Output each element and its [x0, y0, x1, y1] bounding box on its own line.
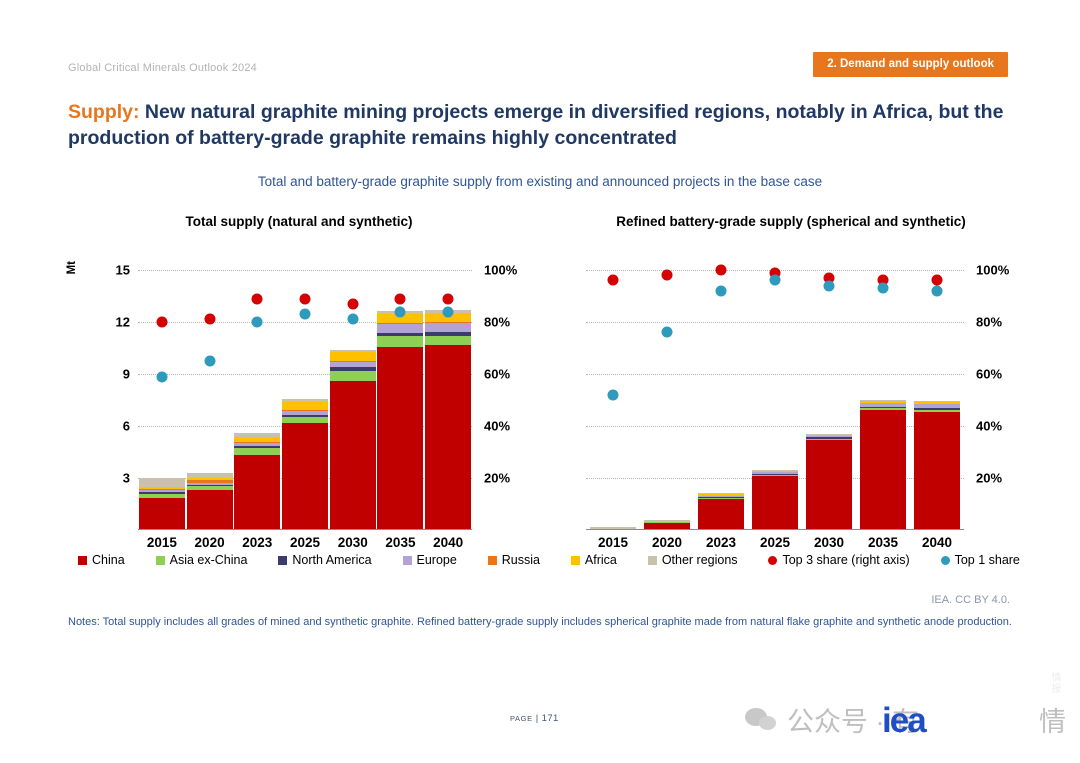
y-tick-right: 80%	[976, 315, 1028, 330]
headline-keyword: Supply:	[68, 101, 140, 123]
y-tick-left: 3	[90, 471, 130, 486]
x-axis-label: 2035	[856, 535, 910, 550]
marker-dot-top-1-share[interactable]	[770, 275, 781, 286]
page-prefix: PAGE	[510, 714, 533, 723]
legend-item-china[interactable]: China	[78, 553, 125, 567]
y-tick-left: 9	[90, 367, 130, 382]
marker-dot-top-3-share-right-axis-[interactable]	[443, 293, 454, 304]
document-label: Global Critical Minerals Outlook 2024	[68, 62, 257, 74]
legend-item-africa[interactable]: Africa	[571, 553, 617, 567]
y-tick-left: 15	[90, 263, 130, 278]
marker-dot-top-3-share-right-axis-[interactable]	[395, 293, 406, 304]
legend-item-russia[interactable]: Russia	[488, 553, 540, 567]
legend-dot-icon	[941, 556, 950, 565]
marker-dot-top-1-share[interactable]	[252, 317, 263, 328]
chart-panel-total-supply: Total supply (natural and synthetic) Mt …	[64, 214, 534, 535]
marker-dot-top-1-share[interactable]	[443, 306, 454, 317]
marker-series-total-supply	[138, 270, 472, 530]
chart-super-title: Total and battery-grade graphite supply …	[0, 174, 1080, 189]
marker-dot-top-1-share[interactable]	[300, 309, 311, 320]
marker-series-refined-supply	[586, 270, 964, 530]
y-tick-right: 40%	[976, 419, 1028, 434]
legend-swatch-icon	[648, 556, 657, 565]
y-tick-right: 100%	[484, 263, 536, 278]
plot-canvas-total-supply	[138, 270, 472, 530]
chart-title-total-supply: Total supply (natural and synthetic)	[64, 214, 534, 229]
legend-label: Russia	[502, 553, 540, 567]
x-axis-label: 2030	[802, 535, 856, 550]
chart-title-refined-supply: Refined battery-grade supply (spherical …	[556, 214, 1026, 229]
marker-dot-top-1-share[interactable]	[395, 306, 406, 317]
legend-swatch-icon	[571, 556, 580, 565]
x-axis-label: 2015	[586, 535, 640, 550]
legend-label: Other regions	[662, 553, 738, 567]
y-tick-right: 60%	[484, 367, 536, 382]
x-axis-label: 2020	[186, 535, 234, 550]
x-axis-label: 2035	[377, 535, 425, 550]
legend-label: Africa	[585, 553, 617, 567]
legend-swatch-icon	[78, 556, 87, 565]
x-axis-labels-refined-supply: 2015202020232025203020352040	[586, 535, 964, 550]
marker-dot-top-1-share[interactable]	[204, 356, 215, 367]
chart-notes: Notes: Total supply includes all grades …	[68, 615, 1012, 631]
x-axis-label: 2023	[694, 535, 748, 550]
y-tick-left: 12	[90, 315, 130, 330]
chart-panel-refined-supply: Refined battery-grade supply (spherical …	[556, 214, 1026, 535]
plot-area-total-supply: Mt 3691215 20%40%60%80%100% 201520202023…	[64, 235, 534, 535]
y-tick-right: 60%	[976, 367, 1028, 382]
x-axis-label: 2020	[640, 535, 694, 550]
marker-dot-top-3-share-right-axis-[interactable]	[347, 298, 358, 309]
legend-swatch-icon	[403, 556, 412, 565]
x-axis-label: 2030	[329, 535, 377, 550]
marker-dot-top-1-share[interactable]	[347, 314, 358, 325]
x-axis-line	[138, 529, 472, 530]
legend-item-asia-ex-china[interactable]: Asia ex-China	[156, 553, 248, 567]
x-axis-line	[586, 529, 964, 530]
legend-label: Europe	[417, 553, 457, 567]
copyright-notice: IEA. CC BY 4.0.	[931, 594, 1010, 606]
marker-dot-top-3-share-right-axis-[interactable]	[252, 293, 263, 304]
legend-item-other-regions[interactable]: Other regions	[648, 553, 738, 567]
marker-dot-top-3-share-right-axis-[interactable]	[300, 293, 311, 304]
page-title: Supply: New natural graphite mining proj…	[68, 100, 1010, 152]
legend-item-north-america[interactable]: North America	[278, 553, 371, 567]
section-badge: 2. Demand and supply outlook	[813, 52, 1008, 77]
plot-area-refined-supply: 20%40%60%80%100% 20152020202320252030203…	[556, 235, 1026, 535]
y-tick-right: 40%	[484, 419, 536, 434]
marker-dot-top-1-share[interactable]	[608, 389, 619, 400]
page-number-value: 171	[542, 713, 559, 724]
iea-logo: iea	[882, 701, 925, 741]
plot-canvas-refined-supply	[586, 270, 964, 530]
y-tick-left: 6	[90, 419, 130, 434]
legend-label: Top 1 share	[955, 553, 1020, 567]
x-axis-label: 2023	[233, 535, 281, 550]
page-number: PAGE | 171	[510, 713, 559, 724]
y-tick-right: 100%	[976, 263, 1028, 278]
legend-item-top-3-share-right-axis-[interactable]: Top 3 share (right axis)	[768, 553, 909, 567]
marker-dot-top-3-share-right-axis-[interactable]	[662, 270, 673, 281]
y-tick-right: 20%	[484, 471, 536, 486]
page-separator: |	[533, 713, 542, 724]
marker-dot-top-1-share[interactable]	[716, 285, 727, 296]
y-tick-right: 80%	[484, 315, 536, 330]
watermark-vertical-text: 情报	[1047, 672, 1062, 694]
marker-dot-top-1-share[interactable]	[156, 371, 167, 382]
chart-legend: ChinaAsia ex-ChinaNorth AmericaEuropeRus…	[78, 553, 1020, 567]
y-axis-unit-label: Mt	[66, 261, 78, 274]
legend-dot-icon	[768, 556, 777, 565]
legend-swatch-icon	[488, 556, 497, 565]
legend-label: China	[92, 553, 125, 567]
x-axis-label: 2040	[910, 535, 964, 550]
legend-swatch-icon	[156, 556, 165, 565]
wechat-icon	[745, 708, 779, 732]
marker-dot-top-3-share-right-axis-[interactable]	[204, 314, 215, 325]
marker-dot-top-3-share-right-axis-[interactable]	[716, 265, 727, 276]
legend-label: Top 3 share (right axis)	[782, 553, 909, 567]
marker-dot-top-1-share[interactable]	[662, 327, 673, 338]
marker-dot-top-3-share-right-axis-[interactable]	[932, 275, 943, 286]
marker-dot-top-1-share[interactable]	[878, 283, 889, 294]
legend-item-top-1-share[interactable]: Top 1 share	[941, 553, 1020, 567]
marker-dot-top-1-share[interactable]	[932, 285, 943, 296]
legend-swatch-icon	[278, 556, 287, 565]
legend-label: Asia ex-China	[170, 553, 248, 567]
x-axis-label: 2025	[281, 535, 329, 550]
headline-text: New natural graphite mining projects eme…	[68, 101, 1003, 149]
x-axis-label: 2015	[138, 535, 186, 550]
marker-dot-top-3-share-right-axis-[interactable]	[608, 275, 619, 286]
x-axis-labels-total-supply: 2015202020232025203020352040	[138, 535, 472, 550]
marker-dot-top-3-share-right-axis-[interactable]	[156, 317, 167, 328]
y-tick-right: 20%	[976, 471, 1028, 486]
watermark-suffix: 情	[1039, 700, 1066, 739]
x-axis-label: 2040	[424, 535, 472, 550]
x-axis-label: 2025	[748, 535, 802, 550]
legend-label: North America	[292, 553, 371, 567]
legend-item-europe[interactable]: Europe	[403, 553, 457, 567]
marker-dot-top-1-share[interactable]	[824, 280, 835, 291]
slide-page: Global Critical Minerals Outlook 2024 2.…	[0, 0, 1080, 763]
